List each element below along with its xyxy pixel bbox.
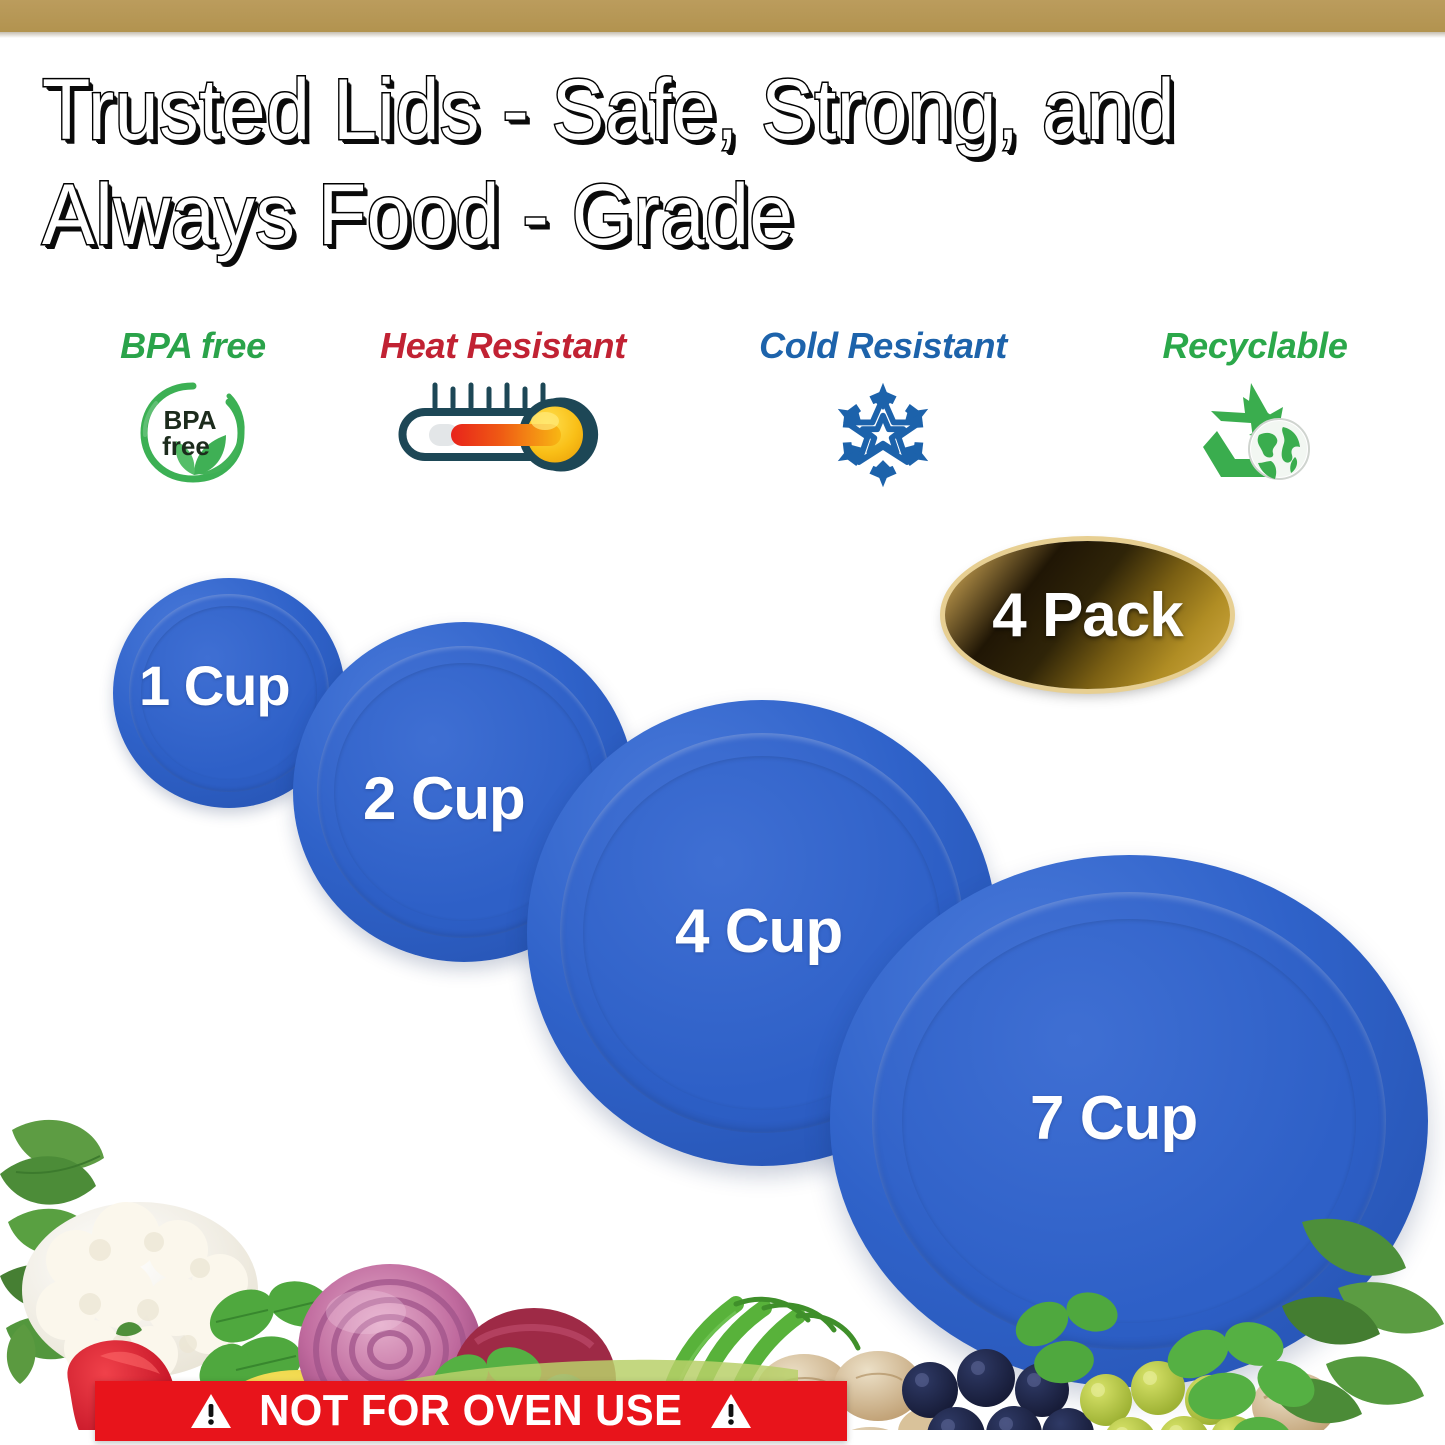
warning-label: NOT FOR OVEN USE (259, 1386, 682, 1436)
pack-count-badge: 4 Pack (945, 541, 1230, 689)
lid-label-1-cup: 1 Cup (139, 653, 290, 718)
warning-triangle-icon-right (710, 1392, 752, 1430)
warning-triangle-icon-left (190, 1392, 232, 1430)
lid-label-4-cup: 4 Cup (675, 896, 842, 967)
warning-banner: NOT FOR OVEN USE (95, 1381, 847, 1441)
product-infographic: Trusted Lids - Safe, Strong, and Always … (0, 0, 1445, 1445)
pack-count-label: 4 Pack (992, 580, 1183, 651)
lid-label-2-cup: 2 Cup (363, 764, 525, 833)
